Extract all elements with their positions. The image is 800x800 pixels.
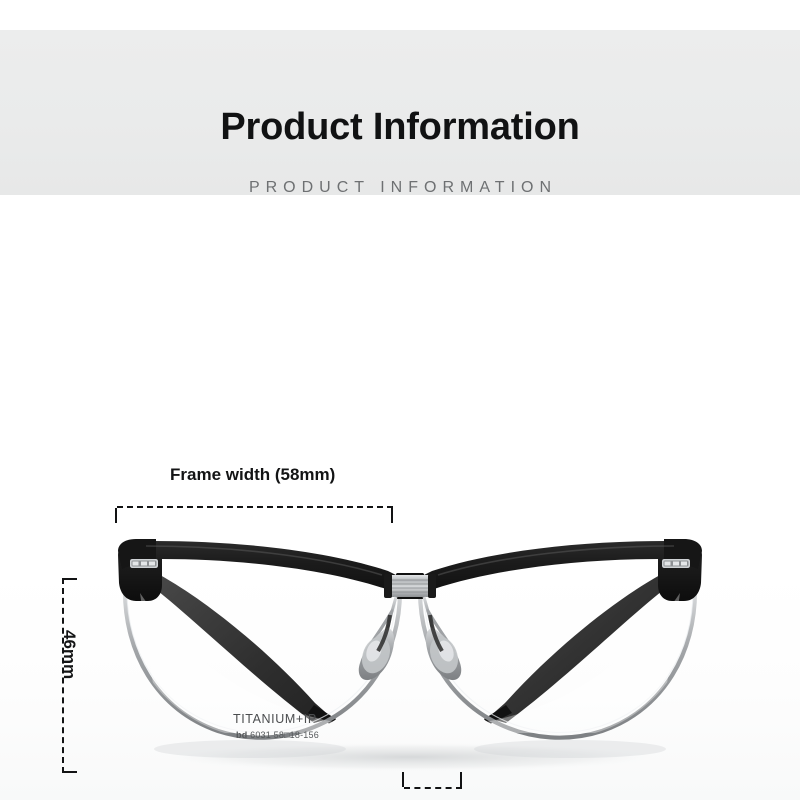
lens-model-engraving: bd 6031 58□18-156 xyxy=(236,731,319,740)
lens-brand-engraving: TITANIUM+IP xyxy=(233,713,317,726)
product-diagram-area: TITANIUM+IP bd 6031 58□18-156 Frame widt… xyxy=(0,195,800,800)
product-information-page: Product Information PRODUCT INFORMATION xyxy=(0,0,800,800)
eyeglasses-illustration xyxy=(100,533,720,783)
frame-width-top-label: Frame width (58mm) xyxy=(170,466,335,483)
header-band: Product Information PRODUCT INFORMATION xyxy=(0,30,800,195)
frame-width-top-bracket xyxy=(117,506,393,508)
page-subtitle: PRODUCT INFORMATION xyxy=(0,180,800,196)
nose-bridge-bracket xyxy=(404,787,462,789)
lens-model-code: 6031 58□18-156 xyxy=(250,730,319,740)
page-title: Product Information xyxy=(0,108,800,146)
lens-model-mark: bd xyxy=(236,730,247,740)
lens-height-bracket xyxy=(62,578,64,773)
